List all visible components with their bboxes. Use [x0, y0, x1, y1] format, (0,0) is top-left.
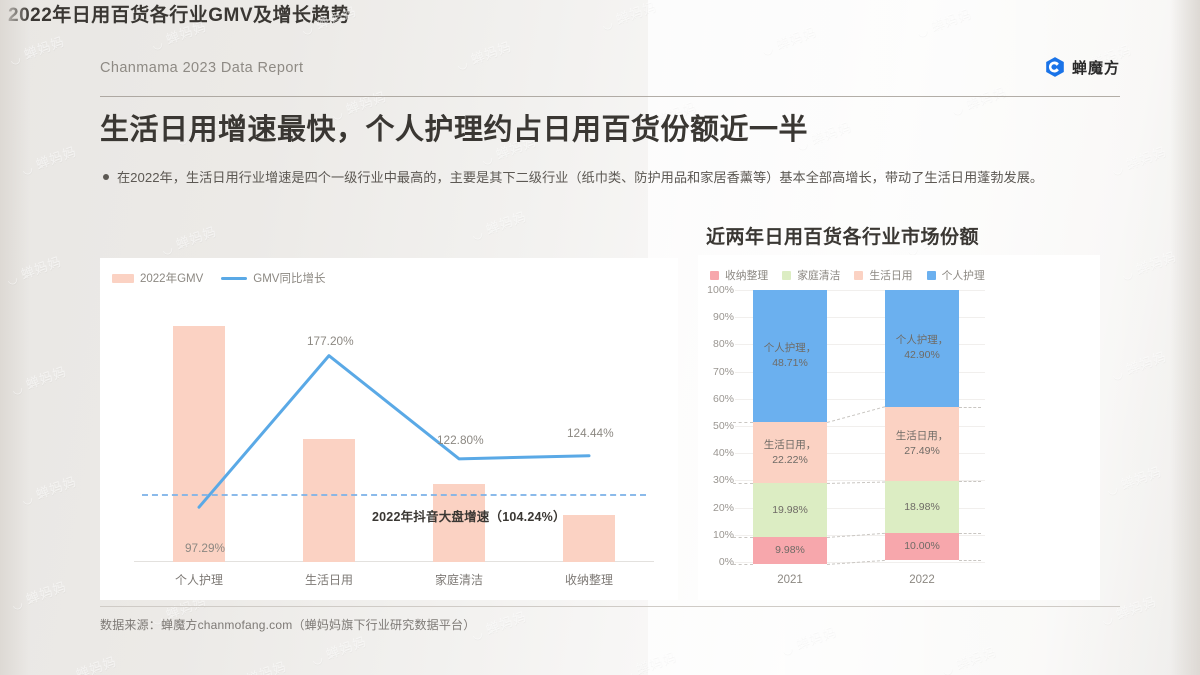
- segment-name: 个人护理，: [764, 341, 817, 356]
- legend-swatch-1: [782, 271, 791, 280]
- header-divider: [100, 96, 1120, 97]
- watermark: 蝉妈妈: [8, 576, 69, 614]
- y-tick-90%: 90%: [713, 311, 734, 323]
- left-chart-legend: 2022年GMV GMV同比增长: [112, 270, 325, 286]
- edge-connector-0-3: [733, 564, 753, 565]
- hexagon-c-logo-icon: [1044, 56, 1066, 78]
- slide-canvas: 蝉妈妈蝉妈妈蝉妈妈蝉妈妈蝉妈妈蝉妈妈蝉妈妈蝉妈妈蝉妈妈蝉妈妈蝉妈妈蝉妈妈蝉妈妈蝉…: [0, 0, 1200, 675]
- legend-item-3[interactable]: 个人护理: [927, 267, 985, 283]
- y-tick-40%: 40%: [713, 447, 734, 459]
- segment-name: 生活日用，: [896, 429, 949, 444]
- edge-connector-1-1: [959, 481, 981, 482]
- segment-个人护理-2021[interactable]: 个人护理，48.71%: [753, 290, 827, 422]
- x-tick-label-0: 个人护理: [144, 571, 254, 588]
- legend-label-2: 生活日用: [869, 267, 912, 283]
- bullet-dot-icon: [103, 174, 109, 180]
- legend-swatch-0: [710, 271, 719, 280]
- y-tick-20%: 20%: [713, 502, 734, 514]
- connector-line-0: [827, 407, 885, 424]
- x-tick-label-1: 生活日用: [274, 571, 384, 588]
- y-tick-10%: 10%: [713, 529, 734, 541]
- watermark: 蝉妈妈: [1108, 346, 1169, 384]
- connector-line-1: [827, 481, 885, 483]
- summary-bullet: 在2022年，生活日用行业增速是四个一级行业中最高的，主要是其下二级行业（纸巾类…: [103, 166, 1103, 189]
- y-tick-50%: 50%: [713, 420, 734, 432]
- y-tick-0%: 0%: [719, 556, 734, 568]
- watermark: 蝉妈妈: [938, 641, 999, 675]
- watermark: 蝉妈妈: [618, 646, 679, 675]
- watermark: 蝉妈妈: [778, 621, 839, 659]
- segment-value: 9.98%: [775, 543, 805, 558]
- right-edge-shade: [1170, 0, 1200, 675]
- legend-line-growth: [221, 277, 247, 280]
- segment-value: 27.49%: [904, 444, 940, 459]
- y-tick-60%: 60%: [713, 393, 734, 405]
- right-y-axis: 0%10%20%30%40%50%60%70%80%90%100%: [698, 290, 734, 562]
- legend-label-3: 个人护理: [942, 267, 985, 283]
- segment-生活日用-2022[interactable]: 生活日用，27.49%: [885, 407, 959, 482]
- legend-item-1[interactable]: 家庭清洁: [782, 267, 840, 283]
- footer-divider: [100, 606, 1120, 607]
- watermark: 蝉妈妈: [1108, 141, 1169, 179]
- segment-name: 生活日用，: [764, 438, 817, 453]
- legend-item-0[interactable]: 收纳整理: [710, 267, 768, 283]
- watermark: 蝉妈妈: [1103, 461, 1164, 499]
- legend-swatch-3: [927, 271, 936, 280]
- segment-name: 个人护理，: [896, 333, 949, 348]
- segment-value: 42.90%: [904, 348, 940, 363]
- legend-swatch-2: [854, 271, 863, 280]
- report-kicker: Chanmama 2023 Data Report: [100, 60, 303, 76]
- left-chart-title: 2022年日用百货各行业GMV及增长趋势: [8, 0, 578, 27]
- x-tick-label-3: 收纳整理: [534, 571, 644, 588]
- edge-connector-1-2: [959, 533, 981, 534]
- segment-收纳整理-2021[interactable]: 9.98%: [753, 537, 827, 564]
- watermark: 蝉妈妈: [758, 21, 819, 59]
- watermark: 蝉妈妈: [598, 0, 659, 33]
- legend-label-gmv: 2022年GMV: [140, 270, 203, 286]
- y-tick-80%: 80%: [713, 338, 734, 350]
- legend-label-growth: GMV同比增长: [253, 270, 325, 286]
- segment-家庭清洁-2021[interactable]: 19.98%: [753, 483, 827, 537]
- edge-connector-1-3: [959, 560, 981, 561]
- slide-header: Chanmama 2023 Data Report 蝉魔方: [100, 60, 1120, 94]
- watermark: 蝉妈妈: [468, 606, 529, 644]
- watermark: 蝉妈妈: [58, 651, 119, 675]
- brand-name: 蝉魔方: [1072, 57, 1120, 78]
- edge-connector-0-0: [733, 422, 753, 423]
- legend-item-gmv[interactable]: 2022年GMV: [112, 270, 203, 286]
- legend-swatch-gmv: [112, 274, 134, 283]
- watermark: 蝉妈妈: [18, 471, 79, 509]
- edge-connector-1-0: [959, 407, 981, 408]
- segment-生活日用-2021[interactable]: 生活日用，22.22%: [753, 422, 827, 482]
- reference-line: [142, 494, 646, 496]
- x-category-2021: 2021: [730, 574, 850, 586]
- right-chart-plot: 2021个人护理，48.71%生活日用，22.22%19.98%9.98%202…: [735, 290, 985, 562]
- segment-value: 10.00%: [904, 539, 940, 554]
- y-tick-70%: 70%: [713, 366, 734, 378]
- summary-text: 在2022年，生活日用行业增速是四个一级行业中最高的，主要是其下二级行业（纸巾类…: [117, 166, 1043, 189]
- left-chart-plot: 个人护理生活日用家庭清洁收纳整理97.29%177.20%122.80%124.…: [134, 292, 654, 562]
- right-chart-title: 近两年日用百货各行业市场份额: [706, 222, 1100, 249]
- line-point-label-1: 177.20%: [307, 334, 354, 348]
- line-point-label-3: 124.44%: [567, 426, 614, 440]
- watermark: 蝉妈妈: [1098, 591, 1159, 629]
- watermark: 蝉妈妈: [913, 3, 974, 41]
- x-tick-label-2: 家庭清洁: [404, 571, 514, 588]
- legend-item-2[interactable]: 生活日用: [854, 267, 912, 283]
- segment-value: 22.22%: [772, 453, 808, 468]
- data-source-note: 数据来源：蝉魔方chanmofang.com（蝉妈妈旗下行业研究数据平台）: [100, 616, 475, 633]
- x-category-2022: 2022: [862, 574, 982, 586]
- watermark: 蝉妈妈: [1118, 246, 1179, 284]
- edge-connector-0-1: [733, 483, 753, 484]
- segment-value: 19.98%: [772, 503, 808, 518]
- reference-line-label: 2022年抖音大盘增速（104.24%）: [372, 506, 566, 525]
- segment-value: 18.98%: [904, 500, 940, 515]
- segment-家庭清洁-2022[interactable]: 18.98%: [885, 481, 959, 533]
- stacked-bar-2021[interactable]: 个人护理，48.71%生活日用，22.22%19.98%9.98%: [753, 290, 827, 562]
- line-point-label-2: 122.80%: [437, 433, 484, 447]
- watermark: 蝉妈妈: [228, 656, 289, 675]
- page-title: 生活日用增速最快，个人护理约占日用百货份额近一半: [100, 106, 808, 148]
- edge-connector-0-2: [733, 537, 753, 538]
- segment-个人护理-2022[interactable]: 个人护理，42.90%: [885, 290, 959, 407]
- line-point-label-0: 97.29%: [185, 541, 225, 555]
- legend-label-0: 收纳整理: [725, 267, 768, 283]
- segment-value: 48.71%: [772, 356, 808, 371]
- legend-item-growth[interactable]: GMV同比增长: [221, 270, 325, 286]
- right-chart-legend: 收纳整理家庭清洁生活日用个人护理: [710, 267, 985, 283]
- stacked-bar-2022[interactable]: 个人护理，42.90%生活日用，27.49%18.98%10.00%: [885, 290, 959, 562]
- brand-logo: 蝉魔方: [1044, 56, 1120, 78]
- watermark: 蝉妈妈: [308, 631, 369, 669]
- segment-收纳整理-2022[interactable]: 10.00%: [885, 533, 959, 560]
- y-tick-30%: 30%: [713, 474, 734, 486]
- legend-label-1: 家庭清洁: [797, 267, 840, 283]
- y-tick-100%: 100%: [707, 284, 734, 296]
